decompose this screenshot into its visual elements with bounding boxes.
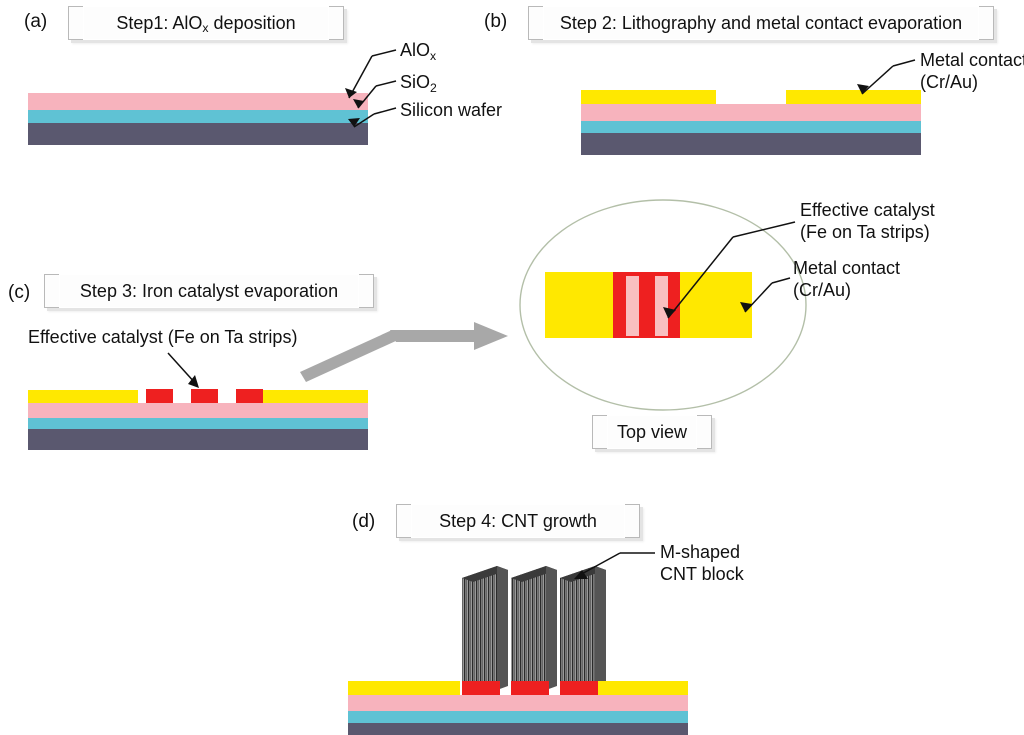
catalyst-strip-d-1 xyxy=(462,681,500,695)
leader-lines-d xyxy=(0,0,1024,735)
layer-sio2-d xyxy=(348,711,688,723)
metal-contact-left-d xyxy=(348,681,460,695)
substrate-stack-d xyxy=(348,681,688,735)
layer-silicon-d xyxy=(348,723,688,735)
catalyst-strip-d-2 xyxy=(511,681,549,695)
figure-canvas: (a) Step1: AlOx deposition AlOx SiO2 Sil… xyxy=(0,0,1024,735)
label-cnt-block-line1: M-shaped xyxy=(660,542,740,562)
layer-alox-d xyxy=(348,695,688,711)
catalyst-strip-d-3 xyxy=(560,681,598,695)
label-cnt-block-line2: CNT block xyxy=(660,564,744,584)
